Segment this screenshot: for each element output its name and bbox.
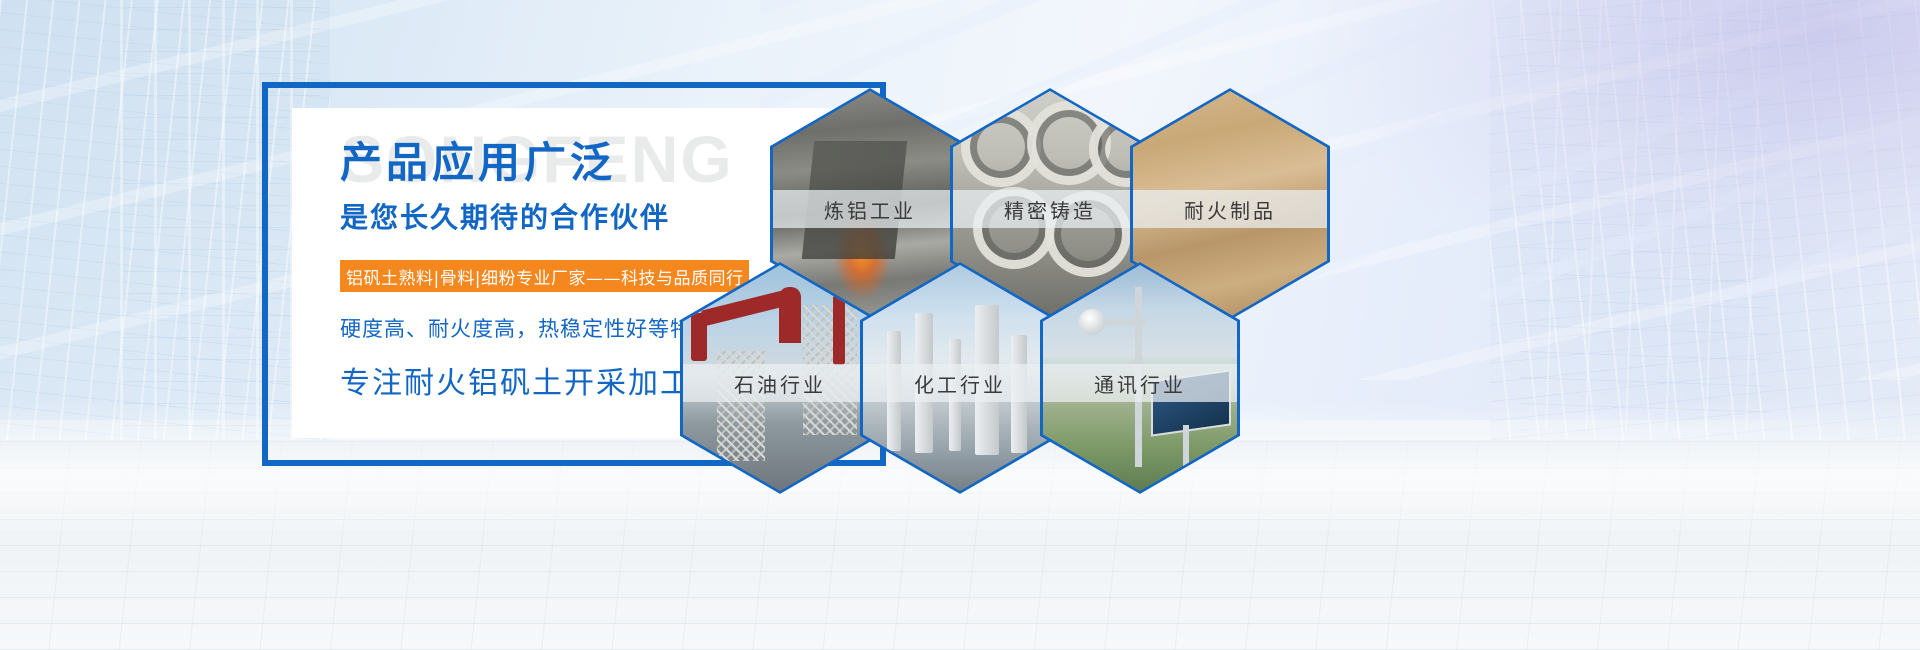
- tagline-band: 铝矾土熟料|骨料|细粉专业厂家——科技与品质同行: [340, 260, 749, 292]
- hexagon-label: 精密铸造: [953, 190, 1147, 228]
- subheadline: 是您长久期待的合作伙伴: [340, 196, 670, 236]
- hexagon-label-text: 化工行业: [914, 369, 1006, 398]
- hexagon-label-text: 通讯行业: [1094, 369, 1186, 398]
- hexagon-label-text: 精密铸造: [1004, 195, 1096, 224]
- hexagon-label: 通讯行业: [1043, 364, 1237, 402]
- headline: 产品应用广泛: [340, 140, 616, 186]
- hexagon-gallery: 炼铝工业 精密铸造: [760, 88, 1400, 508]
- closing-line: 专注耐火铝矾土开采加工: [340, 358, 692, 402]
- hexagon-label: 耐火制品: [1133, 190, 1327, 228]
- hexagon-label-text: 炼铝工业: [824, 195, 916, 224]
- promotional-banner: SONGFENG 产品应用广泛 是您长久期待的合作伙伴 铝矾土熟料|骨料|细粉专…: [0, 0, 1920, 650]
- hexagon-label-text: 耐火制品: [1184, 195, 1276, 224]
- hexagon-label-text: 石油行业: [734, 369, 826, 398]
- hexagon-label: 化工行业: [863, 364, 1057, 402]
- hexagon-label: 石油行业: [683, 364, 877, 402]
- feature-line: 硬度高、耐火度高，热稳定性好等特性: [340, 313, 714, 343]
- hexagon-label: 炼铝工业: [773, 190, 967, 228]
- tagline-text: 铝矾土熟料|骨料|细粉专业厂家——科技与品质同行: [346, 264, 743, 289]
